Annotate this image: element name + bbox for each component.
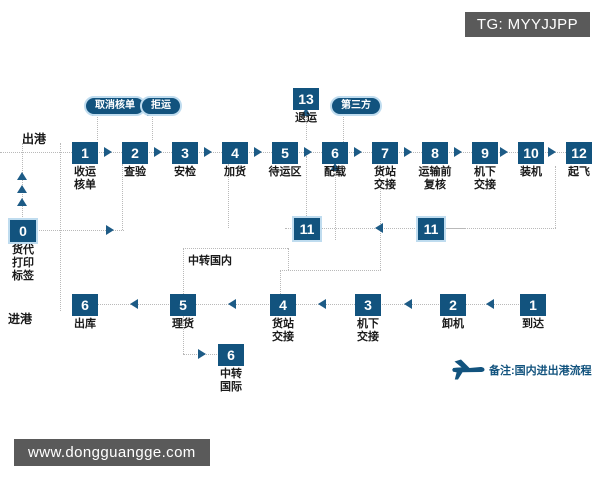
arrow-departure-3-4	[204, 147, 212, 157]
arrow-arrival-4-5	[228, 299, 236, 309]
site-watermark: www.dongguangge.com	[14, 439, 210, 466]
node-arrival-1[interactable]: 1	[520, 294, 546, 316]
node-eleven-right[interactable]: 11	[418, 218, 444, 240]
node-departure-9[interactable]: 9	[472, 142, 498, 164]
arrow-departure-6-7	[354, 147, 362, 157]
node-label-transit-international: 中转 国际	[199, 368, 263, 394]
pill-refuse-ship[interactable]: 拒运	[140, 96, 182, 116]
node-arrival-6[interactable]: 6	[72, 294, 98, 316]
node-label-departure-start: 货代 打印 标签	[0, 244, 55, 283]
arrow-arrival-5-6	[130, 299, 138, 309]
node-departure-5[interactable]: 5	[272, 142, 298, 164]
node-number: 6	[81, 298, 89, 312]
airplane-icon	[452, 357, 486, 383]
connector-transit-domestic-join	[288, 248, 289, 270]
node-number: 3	[364, 298, 372, 312]
node-departure-10[interactable]: 10	[518, 142, 544, 164]
node-number: 2	[131, 146, 139, 160]
node-number: 11	[300, 222, 315, 236]
node-label-arrival-2: 卸机	[421, 318, 485, 331]
node-arrival-3[interactable]: 3	[355, 294, 381, 316]
node-departure-2[interactable]: 2	[122, 142, 148, 164]
node-departure-12[interactable]: 12	[566, 142, 592, 164]
node-label-departure-12: 起飞	[547, 166, 600, 179]
node-number: 8	[431, 146, 439, 160]
arrow-left-up-1	[17, 172, 27, 180]
node-departure-3[interactable]: 3	[172, 142, 198, 164]
node-number: 13	[298, 92, 314, 106]
node-label-arrival-1: 到达	[501, 318, 565, 331]
remark-text: 备注:国内进出港流程	[489, 362, 592, 378]
label-departure: 出港	[22, 130, 46, 147]
pill-cancel-check[interactable]: 取消核单	[84, 96, 146, 116]
arrow-departure-4-5	[254, 147, 262, 157]
remark-group: 备注:国内进出港流程	[452, 357, 592, 383]
node-label-arrival-6: 出库	[53, 318, 117, 331]
node-arrival-4[interactable]: 4	[270, 294, 296, 316]
node-label-arrival-3: 机下 交接	[336, 318, 400, 344]
node-number: 2	[449, 298, 457, 312]
node-number: 11	[424, 222, 439, 236]
label-transit-domestic: 中转国内	[188, 252, 232, 268]
connector-eleven-right-tail	[444, 228, 556, 229]
label-arrival: 进港	[8, 310, 32, 327]
connector-cancel-riser	[97, 112, 98, 140]
node-number: 9	[481, 146, 489, 160]
flowchart-canvas: TG: MYYJJPP www.dongguangge.com	[0, 0, 600, 480]
arrow-departure-5-6	[304, 147, 312, 157]
node-number: 3	[181, 146, 189, 160]
node-number: 6	[331, 146, 339, 160]
node-return-13[interactable]: 13	[293, 88, 319, 110]
arrow-node0-out	[106, 225, 114, 235]
arrow-departure-8-9	[454, 147, 462, 157]
node-label-return-13: 退运	[274, 112, 338, 125]
connector-refuse-riser	[152, 112, 153, 140]
arrow-eleven-left	[375, 223, 383, 233]
arrow-departure-7-8	[404, 147, 412, 157]
node-transit-international[interactable]: 6	[218, 344, 244, 366]
arrow-arrival-2-3	[404, 299, 412, 309]
connector-transit-domestic-top	[183, 248, 288, 249]
node-number: 4	[231, 146, 239, 160]
arrow-departure-10-12	[548, 147, 556, 157]
node-departure-7[interactable]: 7	[372, 142, 398, 164]
arrow-departure-1-2	[104, 147, 112, 157]
node-departure-1[interactable]: 1	[72, 142, 98, 164]
pill-third-party[interactable]: 第三方	[330, 96, 382, 116]
arrow-left-up-3	[17, 198, 27, 206]
node-departure-4[interactable]: 4	[222, 142, 248, 164]
node-number: 10	[523, 146, 539, 160]
node-number: 5	[179, 298, 187, 312]
arrow-left-up-2	[17, 185, 27, 193]
node-number: 0	[19, 224, 27, 238]
node-arrival-2[interactable]: 2	[440, 294, 466, 316]
node-eleven-left[interactable]: 11	[294, 218, 320, 240]
arrow-arrival-1-2	[486, 299, 494, 309]
connector-arrival-node4-top	[280, 270, 381, 271]
node-number: 12	[571, 146, 587, 160]
node-label-arrival-4: 货站 交接	[251, 318, 315, 344]
node-number: 1	[529, 298, 537, 312]
connector-transit-domestic-riser	[183, 248, 184, 298]
node-label-arrival-5: 理货	[151, 318, 215, 331]
node-number: 7	[381, 146, 389, 160]
arrow-departure-2-3	[154, 147, 162, 157]
arrow-departure-9-10	[500, 147, 508, 157]
arrow-arrival-3-4	[318, 299, 326, 309]
tg-watermark: TG: MYYJJPP	[465, 12, 590, 37]
node-number: 4	[279, 298, 287, 312]
node-number: 1	[81, 146, 89, 160]
node-arrival-5[interactable]: 5	[170, 294, 196, 316]
node-departure-8[interactable]: 8	[422, 142, 448, 164]
node-departure-start[interactable]: 0	[10, 220, 36, 242]
node-number: 5	[281, 146, 289, 160]
node-number: 6	[227, 348, 235, 362]
arrow-transit-intl	[198, 349, 206, 359]
connector-arrival-spine	[85, 304, 535, 305]
connector-node0-up	[22, 143, 23, 221]
node-departure-6[interactable]: 6	[322, 142, 348, 164]
